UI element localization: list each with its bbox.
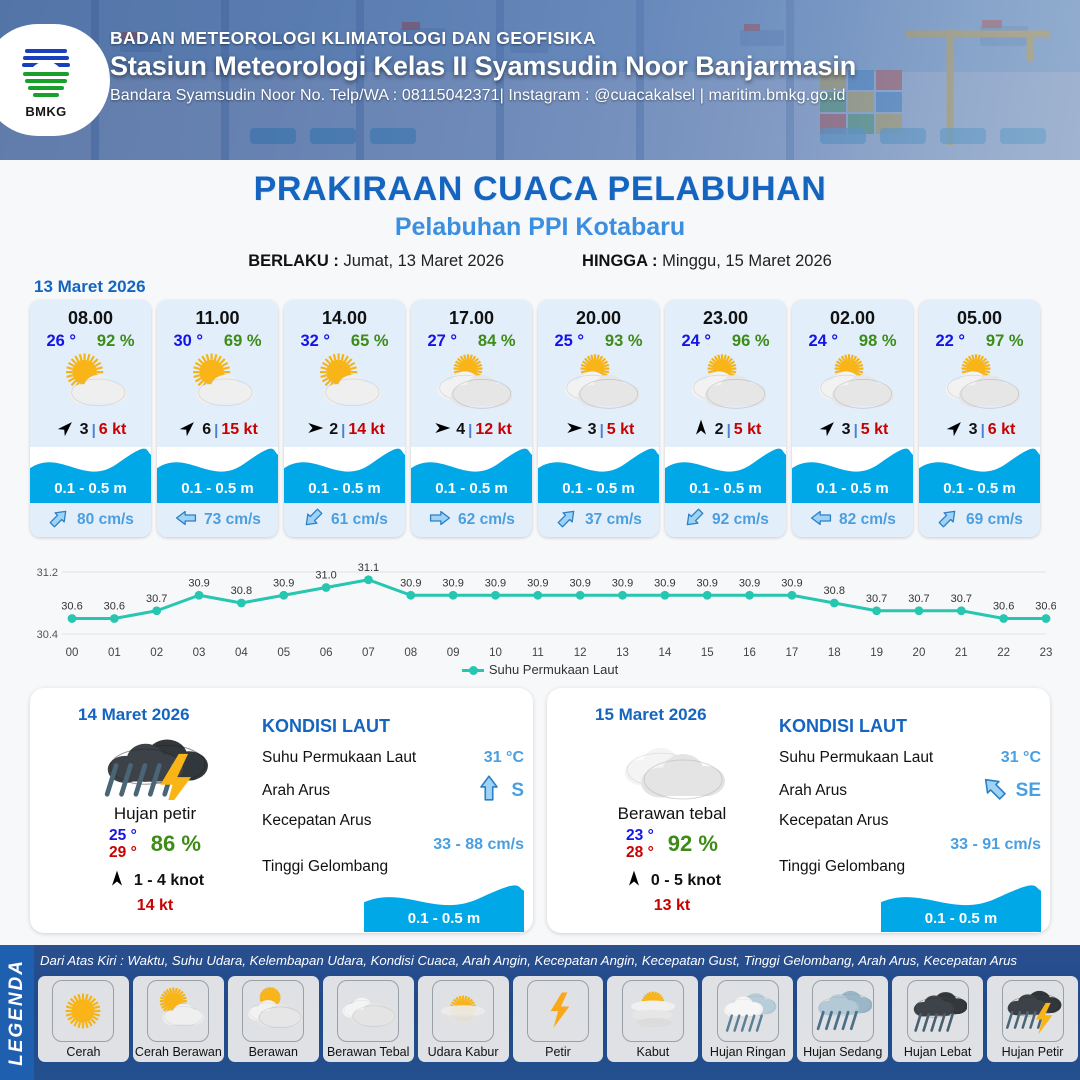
wave-height-label: Tinggi Gelombang bbox=[262, 858, 388, 876]
panel-date: 15 Maret 2026 bbox=[595, 705, 707, 725]
wind-speed: 6 bbox=[202, 421, 211, 439]
sst-label: Suhu Permukaan Laut bbox=[779, 749, 933, 767]
panel-wave-block: 0.1 - 0.5 m bbox=[364, 884, 524, 932]
legend-item: Hujan Ringan bbox=[702, 976, 793, 1062]
gust-speed: 12 kt bbox=[475, 421, 511, 439]
current-direction-arrow-icon bbox=[301, 506, 325, 535]
current-direction-arrow-icon bbox=[936, 506, 960, 535]
weather-berawan-icon bbox=[411, 351, 532, 413]
daily-forecast-panel: 15 Maret 2026 Berawan tebal 23 ° 28 ° 92… bbox=[547, 688, 1050, 933]
svg-text:04: 04 bbox=[235, 647, 248, 659]
weather-hujan-lebat-icon bbox=[907, 980, 969, 1042]
svg-text:30.7: 30.7 bbox=[146, 593, 167, 605]
wind-direction-arrow-icon bbox=[177, 418, 199, 443]
weather-berawan-icon bbox=[242, 980, 304, 1042]
current-direction-arrow-icon bbox=[682, 506, 706, 535]
legend-side-tab: LEGENDA bbox=[0, 945, 34, 1080]
chart-legend-marker bbox=[462, 669, 484, 672]
card-time: 05.00 bbox=[919, 300, 1040, 329]
bmkg-logo-text: BMKG bbox=[25, 104, 66, 119]
validity-block: BERLAKU : Jumat, 13 Maret 2026 HINGGA : … bbox=[0, 252, 1080, 271]
svg-text:30.8: 30.8 bbox=[231, 585, 252, 597]
legend-item-label: Cerah bbox=[66, 1045, 100, 1059]
svg-text:00: 00 bbox=[66, 647, 79, 659]
panel-date: 14 Maret 2026 bbox=[78, 705, 190, 725]
gust-speed: 6 kt bbox=[988, 421, 1016, 439]
svg-text:30.6: 30.6 bbox=[993, 601, 1014, 613]
weather-berawan-tebal-icon bbox=[337, 980, 399, 1042]
wind-speed: 4 bbox=[456, 421, 465, 439]
card-temperature: 27 ° bbox=[427, 332, 457, 351]
svg-text:16: 16 bbox=[743, 647, 756, 659]
legend-item: Petir bbox=[513, 976, 604, 1062]
legend-item: Berawan bbox=[228, 976, 319, 1062]
current-speed: 73 cm/s bbox=[204, 511, 261, 529]
svg-text:30.9: 30.9 bbox=[781, 577, 802, 589]
wave-block: 0.1 - 0.5 m bbox=[411, 447, 532, 503]
station-name: Stasiun Meteorologi Kelas II Syamsudin N… bbox=[110, 51, 856, 82]
gust-speed: 5 kt bbox=[861, 421, 889, 439]
svg-text:31.1: 31.1 bbox=[358, 562, 379, 574]
sst-value: 31 °C bbox=[1001, 749, 1041, 767]
panel-gust: 13 kt bbox=[567, 897, 777, 915]
forecast-card: 23.00 24 ° 96 % 2 | 5 kt 0.1 - 0.5 m bbox=[665, 300, 786, 537]
current-direction-arrow-icon bbox=[47, 506, 71, 535]
svg-text:30.7: 30.7 bbox=[866, 593, 887, 605]
page-title-block: PRAKIRAAN CUACA PELABUHAN Pelabuhan PPI … bbox=[0, 170, 1080, 242]
wave-height: 0.1 - 0.5 m bbox=[411, 480, 532, 497]
svg-text:30.9: 30.9 bbox=[527, 577, 548, 589]
card-temperature: 30 ° bbox=[173, 332, 203, 351]
sst-value: 31 °C bbox=[484, 749, 524, 767]
card-temperature: 26 ° bbox=[46, 332, 76, 351]
wind-separator: | bbox=[981, 422, 985, 439]
weather-kabut-icon bbox=[622, 980, 684, 1042]
wind-separator: | bbox=[854, 422, 858, 439]
forecast-card: 17.00 27 ° 84 % 4 | 12 kt 0.1 - 0.5 m bbox=[411, 300, 532, 537]
card-time: 17.00 bbox=[411, 300, 532, 329]
wind-direction-arrow-icon bbox=[944, 418, 966, 443]
forecast-card: 11.00 30 ° 69 % 6 | 15 kt 0.1 - 0.5 m 73… bbox=[157, 300, 278, 537]
card-time: 20.00 bbox=[538, 300, 659, 329]
legend-side-label: LEGENDA bbox=[6, 959, 28, 1066]
gust-speed: 5 kt bbox=[734, 421, 762, 439]
valid-until-label: HINGGA : bbox=[582, 252, 657, 270]
svg-text:11: 11 bbox=[532, 647, 544, 659]
svg-text:30.8: 30.8 bbox=[824, 585, 845, 597]
weather-petir-icon bbox=[527, 980, 589, 1042]
page-header: BMKG BADAN METEOROLOGI KLIMATOLOGI DAN G… bbox=[0, 0, 1080, 160]
gust-speed: 6 kt bbox=[99, 421, 127, 439]
weather-hujan-petir-icon bbox=[50, 728, 260, 800]
weather-berawan-tebal-icon bbox=[567, 728, 777, 800]
panel-temp-min: 23 ° bbox=[626, 827, 654, 844]
svg-text:02: 02 bbox=[150, 647, 163, 659]
svg-text:30.9: 30.9 bbox=[400, 577, 421, 589]
forecast-card: 20.00 25 ° 93 % 3 | 5 kt 0.1 - 0.5 m bbox=[538, 300, 659, 537]
wind-speed: 3 bbox=[588, 421, 597, 439]
panel-temp-max: 28 ° bbox=[626, 844, 654, 861]
wave-height: 0.1 - 0.5 m bbox=[157, 480, 278, 497]
svg-text:31.2: 31.2 bbox=[37, 567, 58, 579]
legend-item: Berawan Tebal bbox=[323, 976, 414, 1062]
legend-item-label: Hujan Lebat bbox=[904, 1045, 971, 1059]
card-humidity: 96 % bbox=[732, 332, 770, 351]
svg-text:30.9: 30.9 bbox=[739, 577, 760, 589]
wave-height: 0.1 - 0.5 m bbox=[919, 480, 1040, 497]
current-speed-value: 33 - 91 cm/s bbox=[779, 836, 1041, 854]
wave-block: 0.1 - 0.5 m bbox=[30, 447, 151, 503]
svg-text:30.7: 30.7 bbox=[908, 593, 929, 605]
wind-separator: | bbox=[600, 422, 604, 439]
panel-condition: Berawan tebal bbox=[567, 804, 777, 824]
current-speed: 82 cm/s bbox=[839, 511, 896, 529]
legend-bar: LEGENDA Dari Atas Kiri : Waktu, Suhu Uda… bbox=[0, 945, 1080, 1080]
svg-text:30.4: 30.4 bbox=[37, 629, 58, 641]
svg-text:06: 06 bbox=[320, 647, 333, 659]
svg-text:07: 07 bbox=[362, 647, 375, 659]
legend-item-label: Kabut bbox=[637, 1045, 670, 1059]
wave-block: 0.1 - 0.5 m bbox=[157, 447, 278, 503]
wave-height: 0.1 - 0.5 m bbox=[792, 480, 913, 497]
svg-text:30.9: 30.9 bbox=[612, 577, 633, 589]
chart-legend: Suhu Permukaan Laut bbox=[0, 662, 1080, 677]
wind-direction-arrow-icon bbox=[690, 418, 712, 443]
card-time: 11.00 bbox=[157, 300, 278, 329]
valid-from-value: Jumat, 13 Maret 2026 bbox=[344, 252, 505, 270]
weather-cerah-berawan-icon bbox=[30, 351, 151, 413]
legend-item-label: Berawan Tebal bbox=[327, 1045, 409, 1059]
current-direction-value: S bbox=[511, 780, 524, 802]
card-temperature: 24 ° bbox=[681, 332, 711, 351]
bmkg-logo-mark bbox=[15, 41, 77, 103]
panel-temp-min: 25 ° bbox=[109, 827, 137, 844]
current-speed: 37 cm/s bbox=[585, 511, 642, 529]
legend-item-label: Hujan Ringan bbox=[710, 1045, 786, 1059]
forecast-card: 02.00 24 ° 98 % 3 | 5 kt 0.1 - 0.5 m bbox=[792, 300, 913, 537]
current-speed: 92 cm/s bbox=[712, 511, 769, 529]
bmkg-logo: BMKG bbox=[0, 24, 110, 136]
current-speed-value: 33 - 88 cm/s bbox=[262, 836, 524, 854]
weather-cerah-berawan-icon bbox=[157, 351, 278, 413]
legend-item: Hujan Lebat bbox=[892, 976, 983, 1062]
page-title: PRAKIRAAN CUACA PELABUHAN bbox=[0, 170, 1080, 209]
weather-hujan-ringan-icon bbox=[717, 980, 779, 1042]
legend-item-label: Hujan Petir bbox=[1002, 1045, 1064, 1059]
wind-direction-arrow-icon bbox=[55, 418, 77, 443]
forecast-date-label: 13 Maret 2026 bbox=[34, 277, 146, 297]
legend-note: Dari Atas Kiri : Waktu, Suhu Udara, Kele… bbox=[40, 953, 1075, 968]
sea-condition-heading: KONDISI LAUT bbox=[262, 716, 524, 737]
card-temperature: 25 ° bbox=[554, 332, 584, 351]
wind-separator: | bbox=[341, 422, 345, 439]
legend-item-label: Hujan Sedang bbox=[803, 1045, 882, 1059]
card-time: 23.00 bbox=[665, 300, 786, 329]
forecast-card: 08.00 26 ° 92 % 3 | 6 kt 0.1 - 0.5 m 80 … bbox=[30, 300, 151, 537]
panel-gust: 14 kt bbox=[50, 897, 260, 915]
current-direction-label: Arah Arus bbox=[262, 782, 330, 800]
legend-item: Cerah bbox=[38, 976, 129, 1062]
panel-humidity: 92 % bbox=[668, 831, 718, 857]
svg-text:20: 20 bbox=[913, 647, 926, 659]
weather-hujan-petir-icon bbox=[1002, 980, 1064, 1042]
current-direction-label: Arah Arus bbox=[779, 782, 847, 800]
page-subtitle: Pelabuhan PPI Kotabaru bbox=[0, 213, 1080, 242]
card-temperature: 32 ° bbox=[300, 332, 330, 351]
svg-text:31.0: 31.0 bbox=[315, 570, 336, 582]
wave-height-label: Tinggi Gelombang bbox=[779, 858, 905, 876]
wind-separator: | bbox=[727, 422, 731, 439]
current-direction-value: SE bbox=[1016, 780, 1041, 802]
current-speed-label: Kecepatan Arus bbox=[779, 812, 888, 830]
panel-condition: Hujan petir bbox=[50, 804, 260, 824]
legend-item-label: Petir bbox=[545, 1045, 571, 1059]
wind-speed: 3 bbox=[80, 421, 89, 439]
current-speed-label: Kecepatan Arus bbox=[262, 812, 371, 830]
svg-text:30.6: 30.6 bbox=[104, 601, 125, 613]
weather-berawan-icon bbox=[538, 351, 659, 413]
card-humidity: 65 % bbox=[351, 332, 389, 351]
gust-speed: 15 kt bbox=[221, 421, 257, 439]
forecast-card: 05.00 22 ° 97 % 3 | 6 kt 0.1 - 0.5 m bbox=[919, 300, 1040, 537]
svg-text:30.9: 30.9 bbox=[569, 577, 590, 589]
svg-text:30.9: 30.9 bbox=[485, 577, 506, 589]
wind-direction-arrow-icon bbox=[817, 418, 839, 443]
wind-speed: 3 bbox=[969, 421, 978, 439]
wave-block: 0.1 - 0.5 m bbox=[538, 447, 659, 503]
legend-item-label: Berawan bbox=[249, 1045, 298, 1059]
svg-text:18: 18 bbox=[828, 647, 841, 659]
forecast-card: 14.00 32 ° 65 % 2 | 14 kt 0.1 - 0.5 m 61… bbox=[284, 300, 405, 537]
panel-humidity: 86 % bbox=[151, 831, 201, 857]
card-time: 14.00 bbox=[284, 300, 405, 329]
weather-cerah-berawan-icon bbox=[284, 351, 405, 413]
svg-text:30.6: 30.6 bbox=[61, 601, 82, 613]
card-humidity: 69 % bbox=[224, 332, 262, 351]
svg-text:30.9: 30.9 bbox=[188, 577, 209, 589]
wind-separator: | bbox=[92, 422, 96, 439]
legend-item: Cerah Berawan bbox=[133, 976, 224, 1062]
weather-cerah-berawan-icon bbox=[147, 980, 209, 1042]
wave-block: 0.1 - 0.5 m bbox=[792, 447, 913, 503]
svg-text:30.9: 30.9 bbox=[654, 577, 675, 589]
card-humidity: 97 % bbox=[986, 332, 1024, 351]
svg-text:09: 09 bbox=[447, 647, 460, 659]
current-direction-arrow-icon bbox=[979, 773, 1009, 808]
current-speed: 80 cm/s bbox=[77, 511, 134, 529]
panel-wind-arrow-icon bbox=[623, 869, 645, 894]
wind-direction-arrow-icon bbox=[431, 418, 453, 443]
panel-wave-block: 0.1 - 0.5 m bbox=[881, 884, 1041, 932]
wind-speed: 2 bbox=[329, 421, 338, 439]
wind-direction-arrow-icon bbox=[304, 418, 326, 443]
valid-from: BERLAKU : Jumat, 13 Maret 2026 bbox=[248, 252, 504, 271]
wave-block: 0.1 - 0.5 m bbox=[284, 447, 405, 503]
contact-info: Bandara Syamsudin Noor No. Telp/WA : 081… bbox=[110, 87, 856, 105]
wind-speed: 2 bbox=[715, 421, 724, 439]
card-temperature: 22 ° bbox=[935, 332, 965, 351]
wind-separator: | bbox=[468, 422, 472, 439]
card-time: 02.00 bbox=[792, 300, 913, 329]
current-direction-arrow-icon bbox=[474, 773, 504, 808]
svg-text:30.9: 30.9 bbox=[697, 577, 718, 589]
svg-text:14: 14 bbox=[658, 647, 671, 659]
sst-label: Suhu Permukaan Laut bbox=[262, 749, 416, 767]
valid-until-value: Minggu, 15 Maret 2026 bbox=[662, 252, 832, 270]
panel-wind-range: 0 - 5 knot bbox=[651, 872, 721, 890]
weather-hujan-sedang-icon bbox=[812, 980, 874, 1042]
panel-wind-arrow-icon bbox=[106, 869, 128, 894]
header-text-block: BADAN METEOROLOGI KLIMATOLOGI DAN GEOFIS… bbox=[110, 28, 856, 105]
svg-text:23: 23 bbox=[1040, 647, 1053, 659]
current-direction-arrow-icon bbox=[555, 506, 579, 535]
legend-item-label: Cerah Berawan bbox=[135, 1045, 222, 1059]
svg-text:30.6: 30.6 bbox=[1035, 601, 1056, 613]
weather-berawan-icon bbox=[919, 351, 1040, 413]
legend-item: Kabut bbox=[607, 976, 698, 1062]
svg-text:08: 08 bbox=[404, 647, 417, 659]
panel-temp-max: 29 ° bbox=[109, 844, 137, 861]
svg-text:12: 12 bbox=[574, 647, 587, 659]
svg-text:30.9: 30.9 bbox=[442, 577, 463, 589]
svg-text:01: 01 bbox=[108, 647, 121, 659]
chart-legend-label: Suhu Permukaan Laut bbox=[489, 662, 618, 677]
card-humidity: 92 % bbox=[97, 332, 135, 351]
panel-wave-value: 0.1 - 0.5 m bbox=[364, 910, 524, 927]
card-humidity: 84 % bbox=[478, 332, 516, 351]
valid-from-label: BERLAKU : bbox=[248, 252, 339, 270]
svg-text:03: 03 bbox=[193, 647, 206, 659]
card-humidity: 93 % bbox=[605, 332, 643, 351]
legend-item: Hujan Petir bbox=[987, 976, 1078, 1062]
current-speed: 62 cm/s bbox=[458, 511, 515, 529]
svg-text:19: 19 bbox=[870, 647, 883, 659]
legend-item: Hujan Sedang bbox=[797, 976, 888, 1062]
gust-speed: 14 kt bbox=[348, 421, 384, 439]
daily-panel-row: 14 Maret 2026 Hujan petir 25 ° 29 ° 86 % bbox=[30, 688, 1050, 933]
current-speed: 69 cm/s bbox=[966, 511, 1023, 529]
wave-block: 0.1 - 0.5 m bbox=[665, 447, 786, 503]
card-humidity: 98 % bbox=[859, 332, 897, 351]
wind-separator: | bbox=[214, 422, 218, 439]
forecast-card-row: 08.00 26 ° 92 % 3 | 6 kt 0.1 - 0.5 m 80 … bbox=[30, 300, 1050, 537]
legend-item-label: Udara Kabur bbox=[428, 1045, 499, 1059]
current-speed: 61 cm/s bbox=[331, 511, 388, 529]
wind-speed: 3 bbox=[842, 421, 851, 439]
gust-speed: 5 kt bbox=[607, 421, 635, 439]
svg-text:21: 21 bbox=[955, 647, 968, 659]
wave-block: 0.1 - 0.5 m bbox=[919, 447, 1040, 503]
svg-text:22: 22 bbox=[997, 647, 1010, 659]
weather-udara-kabur-icon bbox=[432, 980, 494, 1042]
agency-name: BADAN METEOROLOGI KLIMATOLOGI DAN GEOFIS… bbox=[110, 28, 856, 49]
panel-wind-range: 1 - 4 knot bbox=[134, 872, 204, 890]
daily-forecast-panel: 14 Maret 2026 Hujan petir 25 ° 29 ° 86 % bbox=[30, 688, 533, 933]
current-direction-arrow-icon bbox=[428, 506, 452, 535]
valid-until: HINGGA : Minggu, 15 Maret 2026 bbox=[582, 252, 832, 271]
legend-item: Udara Kabur bbox=[418, 976, 509, 1062]
weather-berawan-icon bbox=[665, 351, 786, 413]
svg-text:15: 15 bbox=[701, 647, 714, 659]
weather-cerah-icon bbox=[52, 980, 114, 1042]
card-temperature: 24 ° bbox=[808, 332, 838, 351]
svg-text:13: 13 bbox=[616, 647, 629, 659]
wave-height: 0.1 - 0.5 m bbox=[538, 480, 659, 497]
svg-text:30.9: 30.9 bbox=[273, 577, 294, 589]
svg-text:05: 05 bbox=[277, 647, 290, 659]
panel-wave-value: 0.1 - 0.5 m bbox=[881, 910, 1041, 927]
weather-berawan-icon bbox=[792, 351, 913, 413]
svg-text:17: 17 bbox=[786, 647, 799, 659]
svg-text:30.7: 30.7 bbox=[951, 593, 972, 605]
wind-direction-arrow-icon bbox=[563, 418, 585, 443]
current-direction-arrow-icon bbox=[174, 506, 198, 535]
svg-text:10: 10 bbox=[489, 647, 502, 659]
wave-height: 0.1 - 0.5 m bbox=[284, 480, 405, 497]
wave-height: 0.1 - 0.5 m bbox=[30, 480, 151, 497]
legend-item-row: Cerah Cerah Berawan Berawan Berawan Teba… bbox=[38, 976, 1078, 1062]
sea-condition-heading: KONDISI LAUT bbox=[779, 716, 1041, 737]
card-time: 08.00 bbox=[30, 300, 151, 329]
current-direction-arrow-icon bbox=[809, 506, 833, 535]
wave-height: 0.1 - 0.5 m bbox=[665, 480, 786, 497]
